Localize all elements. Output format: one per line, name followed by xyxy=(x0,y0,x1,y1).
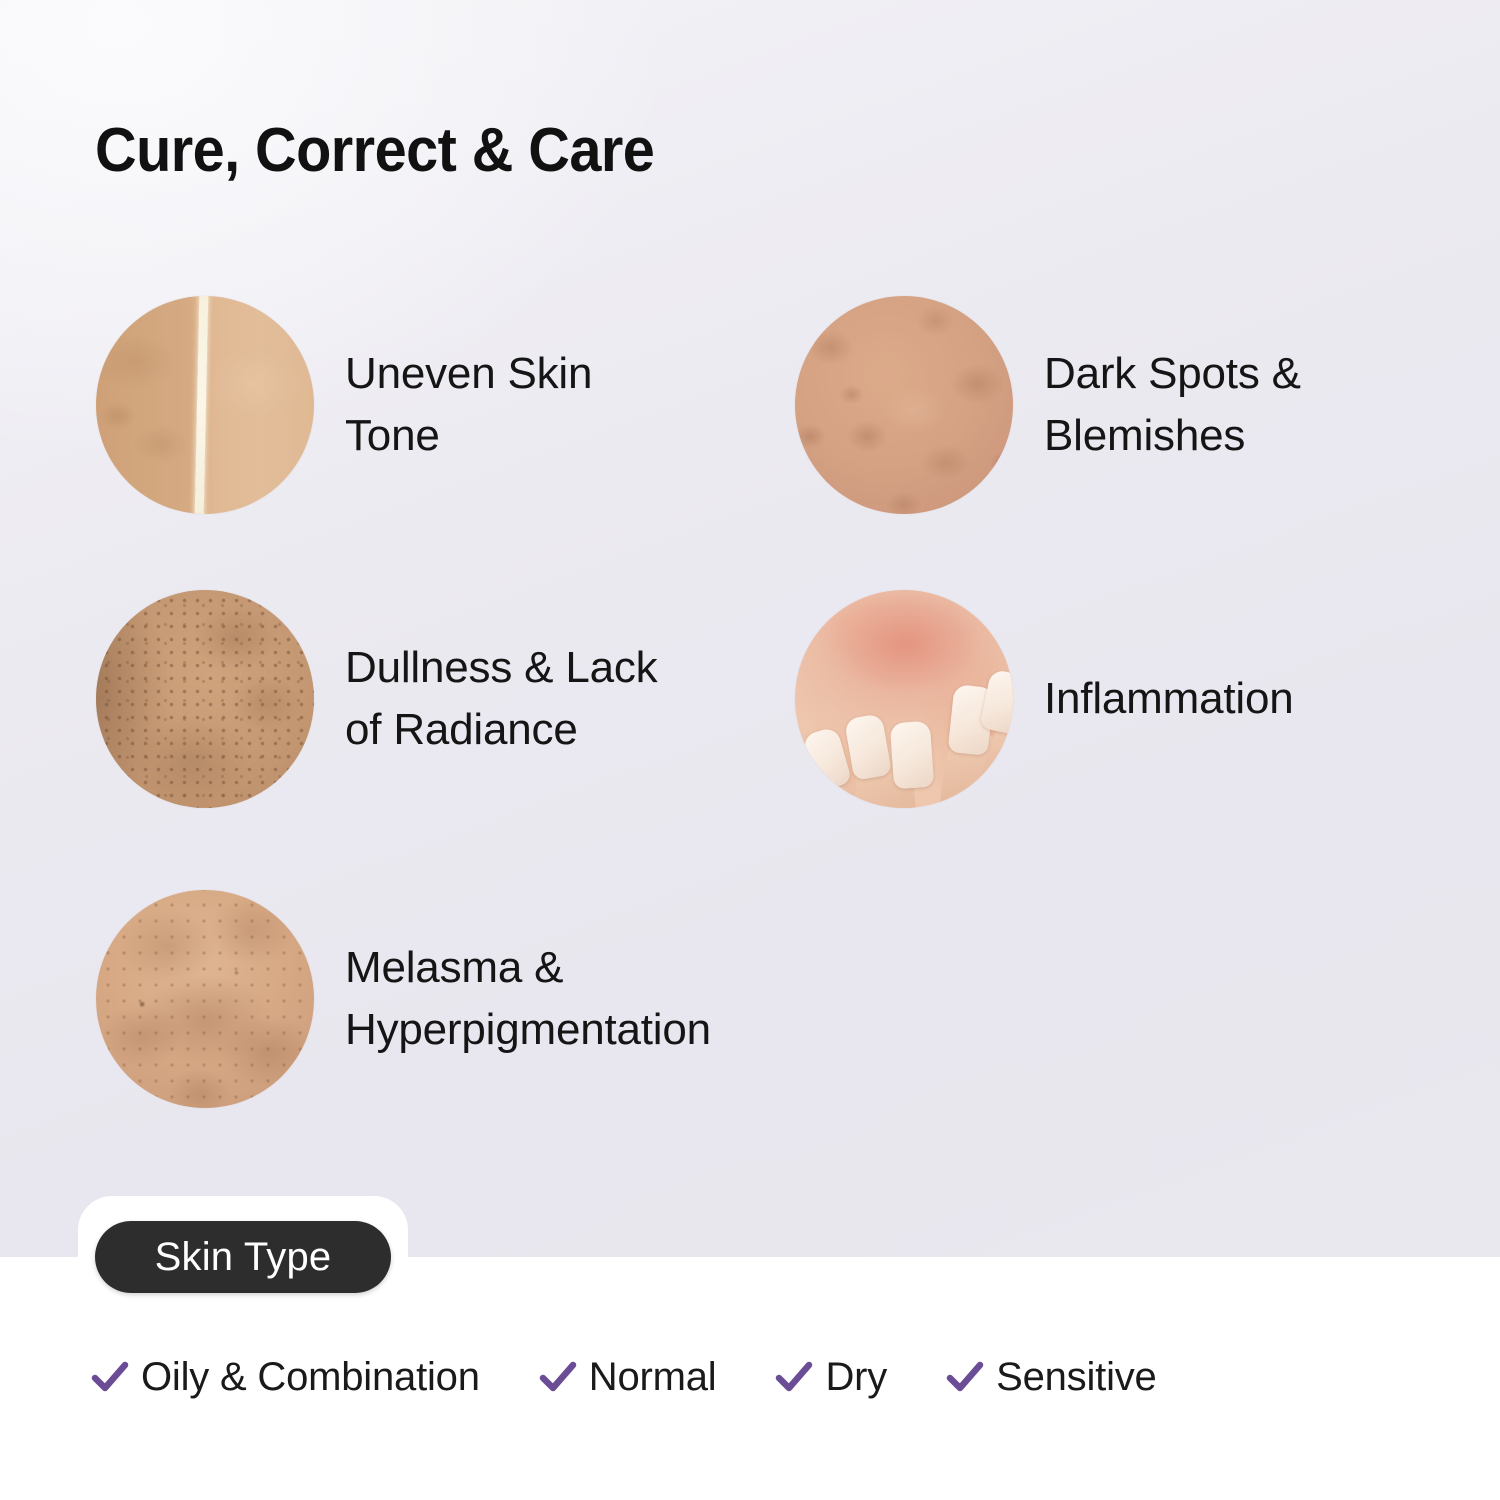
skin-type-option-sensitive: Sensitive xyxy=(945,1355,1157,1400)
skin-type-badge-label: Skin Type xyxy=(155,1235,332,1280)
concern-item-dark-spots-blemishes: Dark Spots &Blemishes xyxy=(795,296,1301,514)
skin-shadow-overlay xyxy=(96,590,314,808)
skin-type-badge: Skin Type xyxy=(95,1221,391,1293)
concern-item-uneven-skin-tone: Uneven SkinTone xyxy=(96,296,592,514)
infographic-page: Cure, Correct & Care Uneven SkinTone Dar… xyxy=(0,0,1500,1500)
skin-type-options-list: Oily & Combination Normal Dry Sensitive xyxy=(90,1355,1157,1400)
freckled-skin-photo-icon xyxy=(795,296,1013,514)
concern-label-uneven-skin-tone: Uneven SkinTone xyxy=(345,343,592,467)
check-icon xyxy=(945,1358,985,1398)
split-skin-tone-photo-icon xyxy=(96,296,314,514)
melasma-patch-skin-photo-icon xyxy=(96,890,314,1108)
concern-item-inflammation: Inflammation xyxy=(795,590,1293,808)
skin-type-option-label: Oily & Combination xyxy=(141,1355,480,1400)
concern-item-melasma-hyperpigmentation: Melasma &Hyperpigmentation xyxy=(96,890,711,1108)
skin-speckle-overlay xyxy=(96,890,314,1108)
skin-type-option-oily-combination: Oily & Combination xyxy=(90,1355,480,1400)
check-icon xyxy=(774,1358,814,1398)
page-title: Cure, Correct & Care xyxy=(95,115,654,186)
check-icon xyxy=(538,1358,578,1398)
skin-type-option-dry: Dry xyxy=(774,1355,887,1400)
skin-type-option-label: Normal xyxy=(589,1355,717,1400)
fingernail-shape xyxy=(890,721,935,790)
skin-spot-overlay xyxy=(795,296,1013,514)
concern-label-inflammation: Inflammation xyxy=(1044,668,1293,730)
skin-type-option-normal: Normal xyxy=(538,1355,717,1400)
concern-label-dark-spots-blemishes: Dark Spots &Blemishes xyxy=(1044,343,1301,467)
dull-textured-skin-photo-icon xyxy=(96,590,314,808)
concern-label-melasma-hyperpigmentation: Melasma &Hyperpigmentation xyxy=(345,937,711,1061)
red-inflamed-skin-with-fingers-photo-icon xyxy=(795,590,1013,808)
concern-item-dullness-lack-of-radiance: Dullness & Lackof Radiance xyxy=(96,590,657,808)
concern-label-dullness-lack-of-radiance: Dullness & Lackof Radiance xyxy=(345,637,657,761)
skin-type-option-label: Sensitive xyxy=(996,1355,1157,1400)
check-icon xyxy=(90,1358,130,1398)
skin-type-option-label: Dry xyxy=(825,1355,887,1400)
